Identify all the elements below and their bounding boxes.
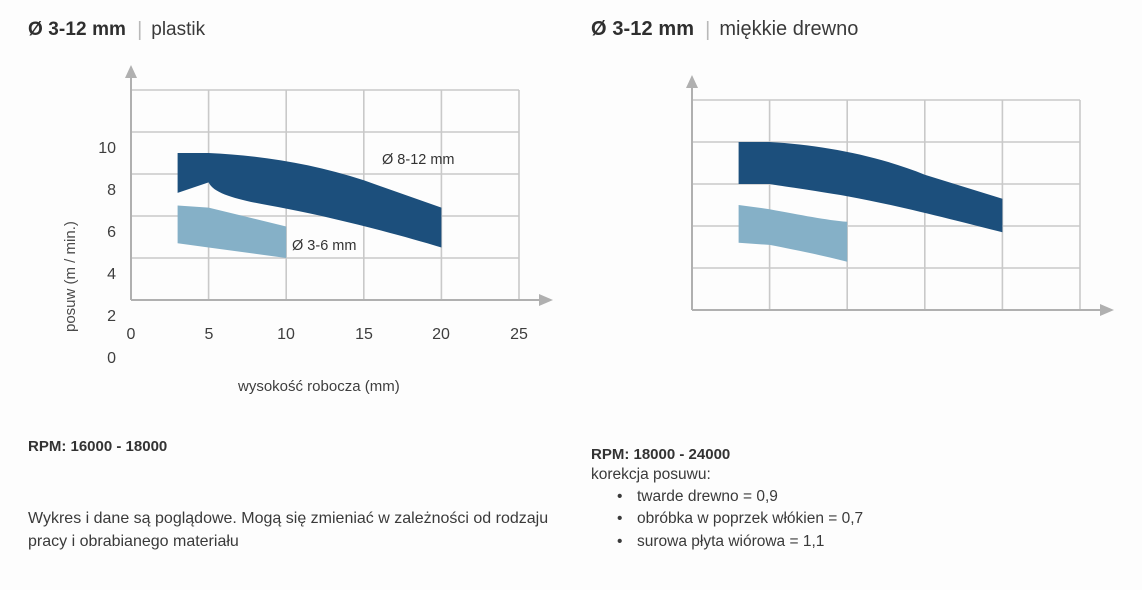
chart-miekkie-drewno-canvas xyxy=(571,70,1142,410)
y-tick-2: 2 xyxy=(82,308,116,326)
list-item: • obróbka w poprzek włókien = 0,7 xyxy=(591,508,1111,530)
y-tick-0: 0 xyxy=(82,350,116,368)
panel-plastik: Ø 3-12 mm|plastik xyxy=(0,0,571,590)
header-material: miękkie drewno xyxy=(719,18,858,40)
band-area-3-6mm xyxy=(178,206,287,259)
band-label-8-12mm: Ø 8-12 mm xyxy=(382,152,455,168)
disclaimer-wrap: Wykres i dane są poglądowe. Mogą się zmi… xyxy=(28,508,568,553)
y-tick-10: 10 xyxy=(82,140,116,158)
y-axis-arrow-icon xyxy=(125,65,137,78)
header-separator: | xyxy=(137,19,142,42)
disclaimer-text: Wykres i dane są poglądowe. Mogą się zmi… xyxy=(28,508,568,553)
x-tick-0: 0 xyxy=(111,326,151,344)
chart-plastik: Ø 8-12 mm Ø 3-6 mm 10 8 6 4 2 0 0 5 10 1… xyxy=(0,60,571,400)
notes-plastik: RPM: 16000 - 18000 xyxy=(28,438,558,455)
header-diameter: Ø 3-12 mm xyxy=(28,19,126,40)
x-axis-arrow-icon xyxy=(539,294,553,306)
bullet-icon: • xyxy=(617,531,622,553)
x-tick-5: 5 xyxy=(189,326,229,344)
rpm-value: RPM: 16000 - 18000 xyxy=(28,438,558,455)
bullet-icon: • xyxy=(617,508,622,530)
list-item: • twarde drewno = 0,9 xyxy=(591,486,1111,508)
list-item-label: twarde drewno = 0,9 xyxy=(637,488,778,505)
x-tick-20: 20 xyxy=(421,326,461,344)
y-axis-label: posuw (m / min.) xyxy=(62,221,79,332)
panel-left-header: Ø 3-12 mm|plastik xyxy=(28,18,205,41)
list-item: • surowa płyta wiórowa = 1,1 xyxy=(591,531,1111,553)
x-tick-25: 25 xyxy=(499,326,539,344)
bullet-icon: • xyxy=(617,486,622,508)
y-axis-arrow-icon xyxy=(686,75,698,88)
x-axis-arrow-icon xyxy=(1100,304,1114,316)
header-diameter: Ø 3-12 mm xyxy=(591,18,694,40)
list-item-label: obróbka w poprzek włókien = 0,7 xyxy=(637,510,863,527)
header-material: plastik xyxy=(151,19,205,40)
header-separator: | xyxy=(705,19,710,42)
notes-miekkie-drewno: RPM: 18000 - 24000 korekcja posuwu: • tw… xyxy=(591,446,1111,553)
x-tick-10: 10 xyxy=(266,326,306,344)
band-label-3-6mm: Ø 3-6 mm xyxy=(292,238,356,254)
grid-lines xyxy=(692,100,1080,310)
panel-right-header: Ø 3-12 mm|miękkie drewno xyxy=(591,18,858,41)
korekcja-label: korekcja posuwu: xyxy=(591,466,1111,484)
x-axis-label: wysokość robocza (mm) xyxy=(238,378,400,395)
band-area-3-6mm xyxy=(739,205,848,262)
rpm-value: RPM: 18000 - 24000 xyxy=(591,446,1111,463)
korekcja-list: • twarde drewno = 0,9 • obróbka w poprze… xyxy=(591,486,1111,553)
chart-miekkie-drewno: Ø 8-12 mm Ø 3-6 mm 10 8 6 4 2 0 0 5 10 1… xyxy=(571,70,1142,410)
y-tick-8: 8 xyxy=(82,182,116,200)
y-tick-4: 4 xyxy=(82,266,116,284)
x-tick-15: 15 xyxy=(344,326,384,344)
list-item-label: surowa płyta wiórowa = 1,1 xyxy=(637,533,824,550)
y-tick-6: 6 xyxy=(82,224,116,242)
